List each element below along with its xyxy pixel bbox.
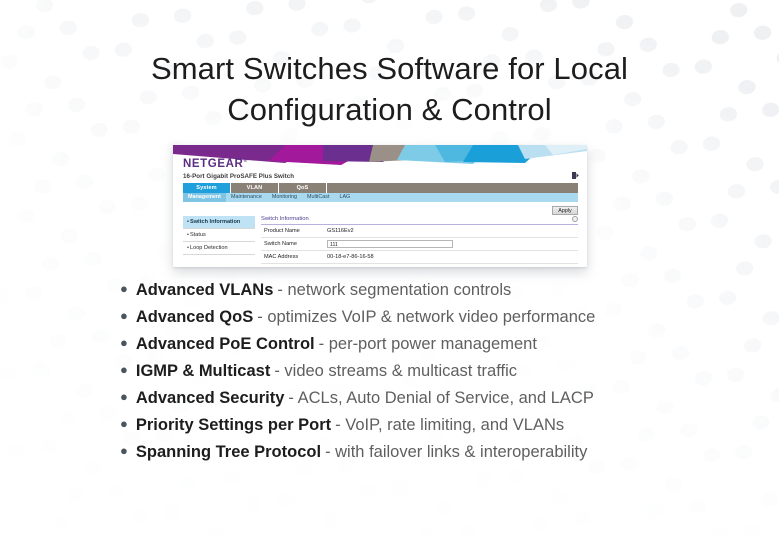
feature-description: - ACLs, Auto Denial of Service, and LACP bbox=[288, 389, 593, 408]
tab-bar-filler bbox=[327, 183, 578, 193]
subtab-multicast[interactable]: MultiCast bbox=[302, 193, 334, 202]
nav-bullet-icon: • bbox=[187, 232, 189, 238]
apply-button[interactable]: Apply bbox=[552, 206, 578, 215]
netgear-logo-text: NETGEAR bbox=[183, 158, 243, 170]
field-label: MAC Address bbox=[261, 254, 327, 260]
device-side-nav: •Switch Information •Status •Loop Detect… bbox=[183, 216, 255, 267]
nav-item-switch-information[interactable]: •Switch Information bbox=[183, 216, 255, 229]
nav-bullet-icon: • bbox=[187, 219, 189, 225]
nav-item-loop-detection[interactable]: •Loop Detection bbox=[183, 242, 255, 255]
feature-description: - per-port power management bbox=[319, 335, 537, 354]
subtab-maintenance[interactable]: Maintenance bbox=[226, 193, 267, 202]
bullet-dot-icon: ● bbox=[120, 282, 128, 295]
nav-item-status[interactable]: •Status bbox=[183, 229, 255, 242]
device-subtab-bar: Management Maintenance Monitoring MultiC… bbox=[183, 193, 578, 202]
feature-term: Advanced Security bbox=[136, 389, 285, 408]
subtab-lag[interactable]: LAG bbox=[334, 193, 355, 202]
field-value: GS116Ev2 bbox=[327, 228, 354, 234]
field-row-product-name: Product Name GS116Ev2 bbox=[261, 225, 578, 238]
bullet-dot-icon: ● bbox=[120, 336, 128, 349]
feature-description: - VoIP, rate limiting, and VLANs bbox=[335, 416, 564, 435]
feature-term: Advanced VLANs bbox=[136, 281, 274, 300]
panel-title: Switch Information bbox=[261, 216, 578, 225]
switch-name-input[interactable]: 111 bbox=[327, 240, 453, 248]
tab-vlan[interactable]: VLAN bbox=[231, 183, 279, 193]
slide-title-line-1: Smart Switches Software for Local bbox=[0, 48, 779, 89]
device-ui-screenshot: NETGEAR® 16-Port Gigabit ProSAFE Plus Sw… bbox=[173, 145, 587, 267]
feature-term: IGMP & Multicast bbox=[136, 362, 270, 381]
nav-bullet-icon: • bbox=[187, 245, 189, 251]
logout-icon-glyph bbox=[572, 172, 579, 179]
field-row-switch-name: Switch Name 111 bbox=[261, 238, 578, 251]
list-item: ● IGMP & Multicast - video streams & mul… bbox=[120, 362, 720, 389]
refresh-icon[interactable] bbox=[572, 216, 578, 222]
feature-list: ● Advanced VLANs - network segmentation … bbox=[120, 281, 720, 470]
bullet-dot-icon: ● bbox=[120, 417, 128, 430]
feature-term: Spanning Tree Protocol bbox=[136, 443, 321, 462]
netgear-logo: NETGEAR® bbox=[183, 158, 247, 170]
netgear-logo-tm: ® bbox=[243, 158, 247, 164]
slide-canvas: Smart Switches Software for Local Config… bbox=[0, 0, 779, 536]
nav-item-label: Status bbox=[190, 232, 206, 238]
slide-title: Smart Switches Software for Local Config… bbox=[0, 48, 779, 130]
bullet-dot-icon: ● bbox=[120, 444, 128, 457]
bullet-dot-icon: ● bbox=[120, 363, 128, 376]
subtab-management[interactable]: Management bbox=[183, 193, 226, 202]
device-model-label: 16-Port Gigabit ProSAFE Plus Switch bbox=[183, 173, 294, 180]
nav-item-label: Switch Information bbox=[190, 219, 240, 225]
field-row-mac-address: MAC Address 00-18-e7-86-16-58 bbox=[261, 251, 578, 264]
feature-term: Advanced PoE Control bbox=[136, 335, 315, 354]
field-value: 00-18-e7-86-16-58 bbox=[327, 254, 374, 260]
field-label: Switch Name bbox=[261, 241, 327, 247]
list-item: ● Advanced Security - ACLs, Auto Denial … bbox=[120, 389, 720, 416]
list-item: ● Spanning Tree Protocol - with failover… bbox=[120, 443, 720, 470]
list-item: ● Advanced QoS - optimizes VoIP & networ… bbox=[120, 308, 720, 335]
device-ui-body: NETGEAR® 16-Port Gigabit ProSAFE Plus Sw… bbox=[173, 145, 587, 267]
tab-system[interactable]: System bbox=[183, 183, 231, 193]
device-content-panel: Switch Information Product Name GS116Ev2… bbox=[261, 216, 578, 267]
feature-description: - video streams & multicast traffic bbox=[274, 362, 517, 381]
feature-description: - optimizes VoIP & network video perform… bbox=[257, 308, 595, 327]
slide-title-line-2: Configuration & Control bbox=[0, 89, 779, 130]
list-item: ● Advanced PoE Control - per-port power … bbox=[120, 335, 720, 362]
field-label: Product Name bbox=[261, 228, 327, 234]
nav-item-label: Loop Detection bbox=[190, 245, 228, 251]
list-item: ● Priority Settings per Port - VoIP, rat… bbox=[120, 416, 720, 443]
feature-description: - network segmentation controls bbox=[277, 281, 511, 300]
feature-term: Priority Settings per Port bbox=[136, 416, 331, 435]
feature-description: - with failover links & interoperability bbox=[325, 443, 587, 462]
bullet-dot-icon: ● bbox=[120, 390, 128, 403]
logout-icon[interactable] bbox=[572, 172, 579, 179]
tab-qos[interactable]: QoS bbox=[279, 183, 327, 193]
bullet-dot-icon: ● bbox=[120, 309, 128, 322]
device-tab-bar: System VLAN QoS bbox=[183, 183, 578, 193]
list-item: ● Advanced VLANs - network segmentation … bbox=[120, 281, 720, 308]
subtab-monitoring[interactable]: Monitoring bbox=[267, 193, 302, 202]
feature-term: Advanced QoS bbox=[136, 308, 253, 327]
